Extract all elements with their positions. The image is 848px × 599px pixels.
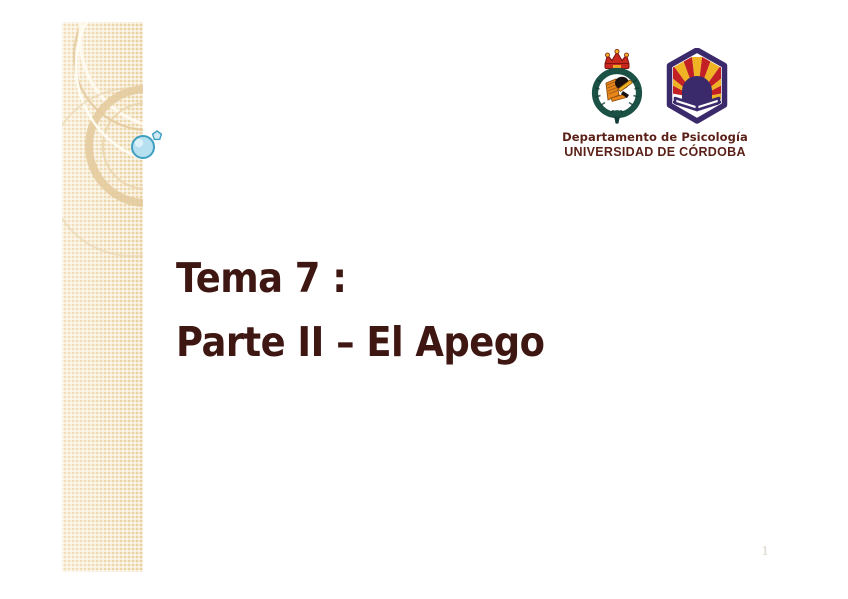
- slide-canvas: Departamento de Psicología UNIVERSIDAD D…: [0, 0, 848, 599]
- decorative-side-band: [62, 22, 143, 572]
- page-number: 1: [757, 544, 773, 560]
- logo-caption: Departamento de Psicología UNIVERSIDAD D…: [548, 131, 762, 159]
- slide-title: Tema 7 : Parte II – El Apego: [176, 246, 736, 374]
- caption-department: Departamento de Psicología: [548, 131, 762, 145]
- universidad-de-cordoba-hexagon-icon: [664, 48, 730, 128]
- psychology-department-crest-icon: [580, 44, 654, 128]
- institution-logos: Departamento de Psicología UNIVERSIDAD D…: [548, 44, 762, 159]
- logo-row: [548, 44, 762, 128]
- title-line-1: Tema 7 :: [176, 246, 680, 310]
- title-line-2: Parte II – El Apego: [176, 310, 680, 374]
- caption-university: UNIVERSIDAD DE CÓRDOBA: [548, 145, 762, 160]
